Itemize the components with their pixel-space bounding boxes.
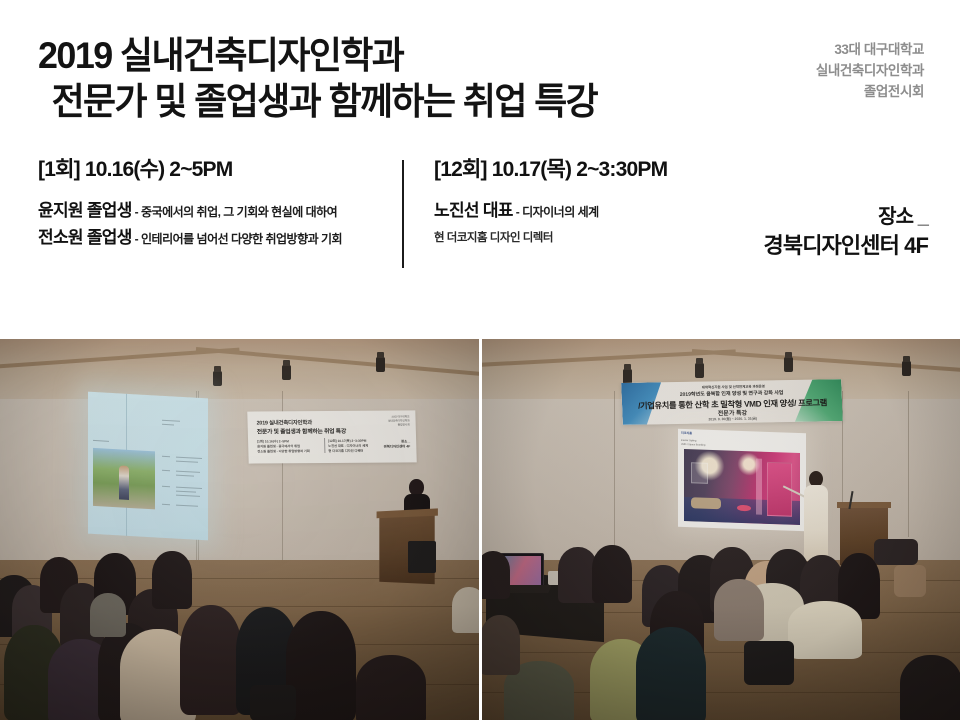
wall-panel-seam [908,391,909,537]
slide-text-line [176,461,198,463]
speaker-topic: - 인테리어를 넘어선 다양한 취업방향과 기회 [135,232,342,246]
session-1-heading: [1회] 10.16(수) 2~5PM [38,158,388,181]
venue-label: 장소 _ [764,204,928,231]
backpack [874,539,918,565]
slide-text-line [176,457,202,459]
projection-screen [88,392,208,541]
person-coat [804,485,828,561]
slide-text-line [162,504,170,505]
render-wall-art [690,462,707,483]
program-banner: 대학혁신지원 사업 및 산학연계교육 과정운영 2019학년도 융복합 인재 양… [621,379,843,425]
speaker-name: 전소원 졸업생 [38,228,132,247]
audience-person [592,545,632,603]
session-1-row-2: 전소원 졸업생- 인테리어를 넘어선 다양한 취업방향과 기회 [38,229,388,247]
projection-screen: 더코지홈 Interior Styling VMD / Space Brandi… [678,429,806,531]
title-line-2: 전문가 및 졸업생과 함께하는 취업 특강 [38,79,717,125]
banner-session-1: [1회] 10.16(수) 2~5PM 윤지원 졸업생 - 중국에서의 취업 전… [257,439,310,454]
banner-session-2: [12회] 10.17(목) 2~3:30PM 노진선 대표 - 디자이너의 세… [328,439,368,454]
slide-text-line [162,424,174,426]
venue-block: 장소 _ 경북디자인센터 4F [764,204,928,261]
speaker-topic: - 중국에서의 취업, 그 기회와 현실에 대하여 [135,205,338,219]
audience-person [452,587,479,633]
event-banner: 2019 실내건축디자인학과 전문가 및 졸업생과 함께하는 취업 특강 [1회… [247,410,416,463]
spotlight-icon [784,357,793,372]
spotlight-icon [376,357,385,372]
audience-person [180,605,242,715]
organizer-line-1: 33대 대구대학교 [816,40,924,61]
session-1-row-1: 윤지원 졸업생- 중국에서의 취업, 그 기회와 현실에 대하여 [38,202,388,220]
audience-person [636,627,706,720]
slide-text-line [162,420,180,422]
session-block-2: [12회] 10.17(목) 2~3:30PM 노진선 대표- 디자이너의 세계… [434,158,734,245]
speaker-name: 노진선 대표 [434,201,513,220]
slide-text-line [176,495,200,497]
session-1-rows: 윤지원 졸업생- 중국에서의 취업, 그 기회와 현실에 대하여 전소원 졸업생… [38,202,388,247]
audience-person [714,579,764,641]
backpack [250,685,296,720]
banner-divider [324,438,325,453]
audience-person [482,551,510,599]
slide-text-line [162,456,170,457]
audience-person [90,593,126,637]
slide-text-line [176,475,194,477]
slide-text-line [176,471,200,473]
slide-text-line [176,505,198,507]
banner-title-line-2: 전문가 및 졸업생과 함께하는 취업 특강 [257,426,346,436]
room-scene-1: 2019 실내건축디자인학과 전문가 및 졸업생과 함께하는 취업 특강 [1회… [0,339,479,720]
organizer-line-2: 실내건축디자인학과 [816,61,924,82]
photo-lecture-hall-1: 2019 실내건축디자인학과 전문가 및 졸업생과 함께하는 취업 특강 [1회… [0,339,479,720]
session-block-1: [1회] 10.16(수) 2~5PM 윤지원 졸업생- 중국에서의 취업, 그… [38,158,388,256]
spotlight-icon [902,361,911,376]
audience-person [900,655,960,720]
organizer-block: 33대 대구대학교 실내건축디자인학과 졸업전시회 [816,40,924,103]
spotlight-icon [213,371,222,386]
spotlight-icon [282,365,291,380]
audience-person [788,601,862,659]
poster-root: 2019 실내건축디자인학과 전문가 및 졸업생과 함께하는 취업 특강 33대… [0,0,960,720]
audience-person [356,655,426,720]
slide-subtext: Interior Styling VMD / Space Branding [681,439,705,448]
speaker-name: 윤지원 졸업생 [38,201,132,220]
poster-text-area: 2019 실내건축디자인학과 전문가 및 졸업생과 함께하는 취업 특강 33대… [0,0,960,339]
slide-text-line [162,470,170,471]
speaker-topic: - 디자이너의 세계 [516,205,599,219]
render-pillar [755,459,761,515]
spotlight-icon [695,363,704,378]
slide-interior-render [684,449,800,525]
photo-strip: 2019 실내건축디자인학과 전문가 및 졸업생과 함께하는 취업 특강 [1회… [0,339,960,720]
backpack [744,641,794,685]
program-banner-line-5: 2019. 9. 30(월) ~ 2020. 1. 31(금) [662,415,802,422]
room-scene-2: 대학혁신지원 사업 및 산학연계교육 과정운영 2019학년도 융복합 인재 양… [482,339,960,720]
slide-text-line [176,491,196,493]
slide-text-line [176,487,202,489]
audience-person [152,551,192,609]
organizer-line-3: 졸업전시회 [816,82,924,103]
session-2-heading: [12회] 10.17(목) 2~3:30PM [434,158,734,181]
title-line-1: 2019 실내건축디자인학과 [38,33,717,79]
slide-photo [93,448,155,509]
audience-person [286,611,356,720]
slide-text-line [162,486,170,487]
speaker-amp [408,541,436,573]
session-2-row-1: 노진선 대표- 디자이너의 세계 [434,202,734,220]
session-2-note: 현 더코지홈 디자인 디렉터 [434,229,734,245]
audience-person [482,615,520,675]
banner-venue: 장소 _ 경북디자인센터 4F [383,439,410,449]
banner-organizer: 33대 대구대학교 실내건축디자인학과 졸업전시회 [388,415,410,428]
backpack [894,565,926,597]
floor-plank-line [482,652,960,653]
slide-header: 더코지홈 [681,431,692,435]
photo-lecture-hall-2: 대학혁신지원 사업 및 산학연계교육 과정운영 2019학년도 융복합 인재 양… [482,339,960,720]
venue-name: 경북디자인센터 4F [764,231,928,261]
page-title: 2019 실내건축디자인학과 전문가 및 졸업생과 함께하는 취업 특강 [38,33,738,126]
slide-text-line [93,440,109,442]
session-2-rows: 노진선 대표- 디자이너의 세계 현 더코지홈 디자인 디렉터 [434,202,734,245]
render-cushion [737,505,751,512]
session-divider [402,160,404,268]
spotlight-icon [623,369,632,384]
presenter-person [804,471,828,559]
